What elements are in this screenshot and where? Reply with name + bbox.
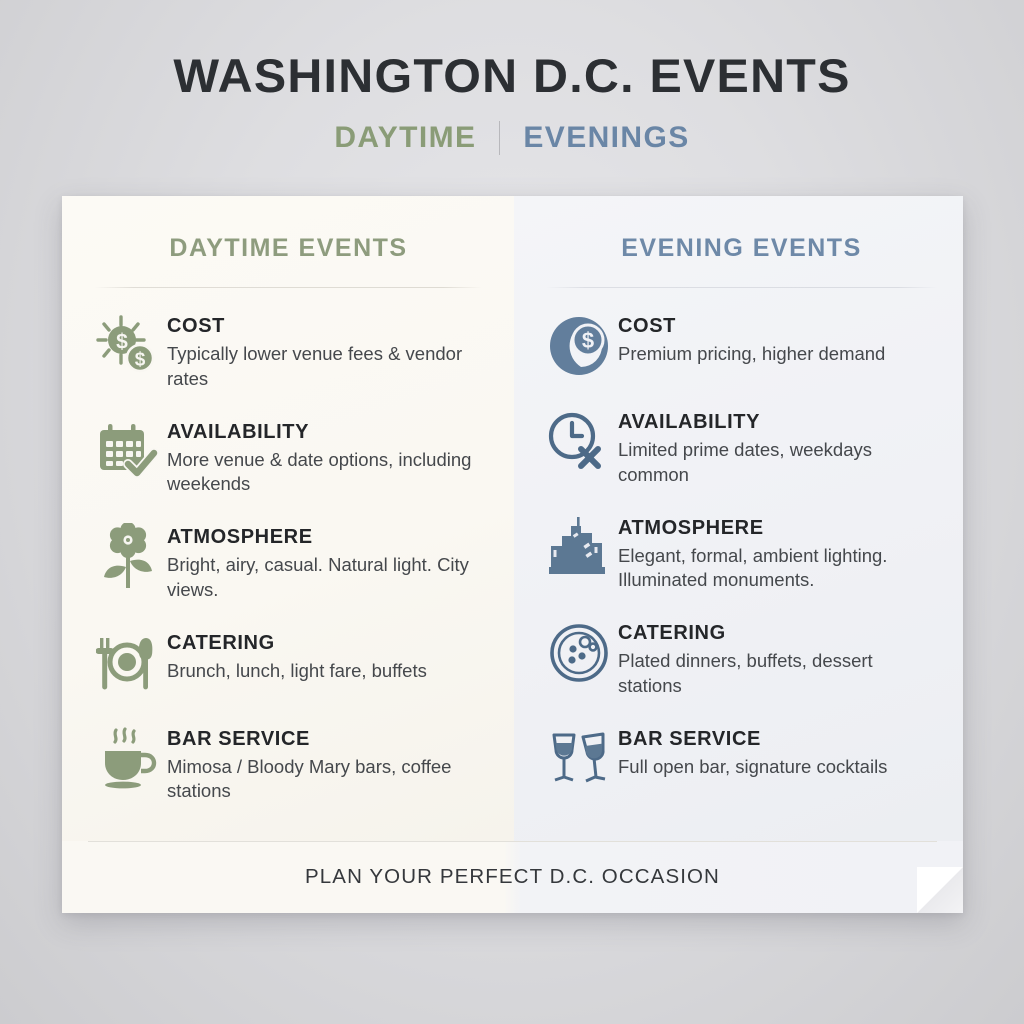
item-label: BAR SERVICE — [167, 728, 482, 750]
item-label: COST — [618, 315, 885, 337]
item-description: Brunch, lunch, light fare, buffets — [167, 659, 427, 684]
item-label: AVAILABILITY — [618, 411, 928, 433]
item-label: BAR SERVICE — [618, 728, 887, 750]
list-item: ATMOSPHERE Elegant, formal, ambient ligh… — [540, 512, 943, 594]
columns-container: DAYTIME EVENTS — [62, 196, 963, 841]
coffee-cup-icon — [89, 723, 167, 795]
plate-cutlery-icon — [89, 627, 167, 699]
footer-rule — [88, 841, 937, 842]
svg-text:$: $ — [135, 350, 146, 371]
list-item: $ COST Premium pricing, higher demand — [540, 310, 943, 382]
subtitle-daytime: DAYTIME — [334, 121, 499, 155]
column-heading-daytime: DAYTIME EVENTS — [89, 222, 488, 261]
item-description: More venue & date options, including wee… — [167, 448, 482, 498]
svg-text:$: $ — [582, 328, 594, 353]
list-item: CATERING Brunch, lunch, light fare, buff… — [89, 627, 488, 699]
item-label: CATERING — [167, 632, 427, 654]
item-label: COST — [167, 315, 482, 337]
column-daytime: DAYTIME EVENTS — [62, 196, 514, 841]
list-item: AVAILABILITY More venue & date options, … — [89, 416, 488, 498]
moon-coin-icon: $ — [540, 310, 618, 382]
item-description: Mimosa / Bloody Mary bars, coffee statio… — [167, 755, 482, 805]
list-item: AVAILABILITY Limited prime dates, weekda… — [540, 406, 943, 488]
sun-coins-icon: $ $ — [89, 310, 167, 382]
item-description: Limited prime dates, weekdays common — [618, 438, 928, 488]
page-title: WASHINGTON D.C. EVENTS — [0, 52, 1024, 99]
list-item: $ $ COST Typically lower venue fees & ve… — [89, 310, 488, 392]
column-evening: EVENING EVENTS $ — [514, 196, 963, 841]
list-item: BAR SERVICE Full open bar, signature coc… — [540, 723, 943, 795]
list-item: BAR SERVICE Mimosa / Bloody Mary bars, c… — [89, 723, 488, 805]
item-description: Typically lower venue fees & vendor rate… — [167, 342, 482, 392]
title-block: WASHINGTON D.C. EVENTS DAYTIME EVENINGS — [0, 52, 1024, 155]
subtitle: DAYTIME EVENINGS — [0, 121, 1024, 155]
item-description: Plated dinners, buffets, dessert station… — [618, 649, 928, 699]
list-item: ATMOSPHERE Bright, airy, casual. Natural… — [89, 521, 488, 603]
footer-text: PLAN YOUR PERFECT D.C. OCCASION — [305, 865, 720, 889]
column-heading-evening: EVENING EVENTS — [540, 222, 943, 261]
item-label: ATMOSPHERE — [167, 526, 482, 548]
item-description: Premium pricing, higher demand — [618, 342, 885, 367]
svg-text:$: $ — [116, 331, 128, 354]
footer: PLAN YOUR PERFECT D.C. OCCASION — [62, 841, 963, 913]
calendar-check-icon — [89, 416, 167, 488]
item-description: Bright, airy, casual. Natural light. Cit… — [167, 553, 482, 603]
clock-x-icon — [540, 406, 618, 478]
flower-icon — [89, 521, 167, 593]
item-label: ATMOSPHERE — [618, 517, 928, 539]
item-label: CATERING — [618, 622, 928, 644]
wine-glasses-icon — [540, 723, 618, 795]
subtitle-evenings: EVENINGS — [500, 121, 689, 155]
comparison-card: DAYTIME EVENTS — [62, 196, 963, 913]
city-skyline-icon — [540, 512, 618, 584]
item-description: Elegant, formal, ambient lighting. Illum… — [618, 544, 928, 594]
infographic-poster: WASHINGTON D.C. EVENTS DAYTIME EVENINGS … — [0, 0, 1024, 1024]
item-description: Full open bar, signature cocktails — [618, 755, 887, 780]
plated-dish-icon — [540, 617, 618, 689]
list-item: CATERING Plated dinners, buffets, desser… — [540, 617, 943, 699]
item-label: AVAILABILITY — [167, 421, 482, 443]
